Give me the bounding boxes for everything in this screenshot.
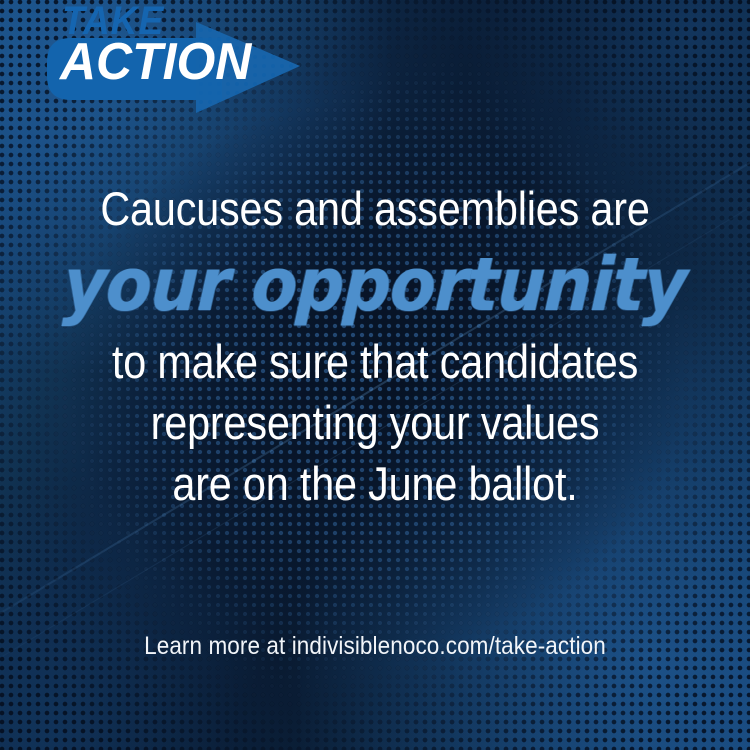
take-action-logo: TAKE ACTION <box>0 0 330 130</box>
headline-line-5: are on the June ballot. <box>70 453 681 514</box>
take-action-poster: TAKE ACTION Caucuses and assemblies are … <box>0 0 750 750</box>
logo-word-action: ACTION <box>60 36 251 88</box>
footer-learn-more[interactable]: Learn more at indivisiblenoco.com/take-a… <box>38 631 713 661</box>
headline-line-2-script: your opportunity <box>61 239 690 331</box>
headline-line-3: to make sure that candidates <box>70 331 681 392</box>
headline-line-4: representing your values <box>70 392 681 453</box>
headline-line-1: Caucuses and assemblies are <box>70 178 681 239</box>
headline-block: Caucuses and assemblies are your opportu… <box>0 178 750 514</box>
